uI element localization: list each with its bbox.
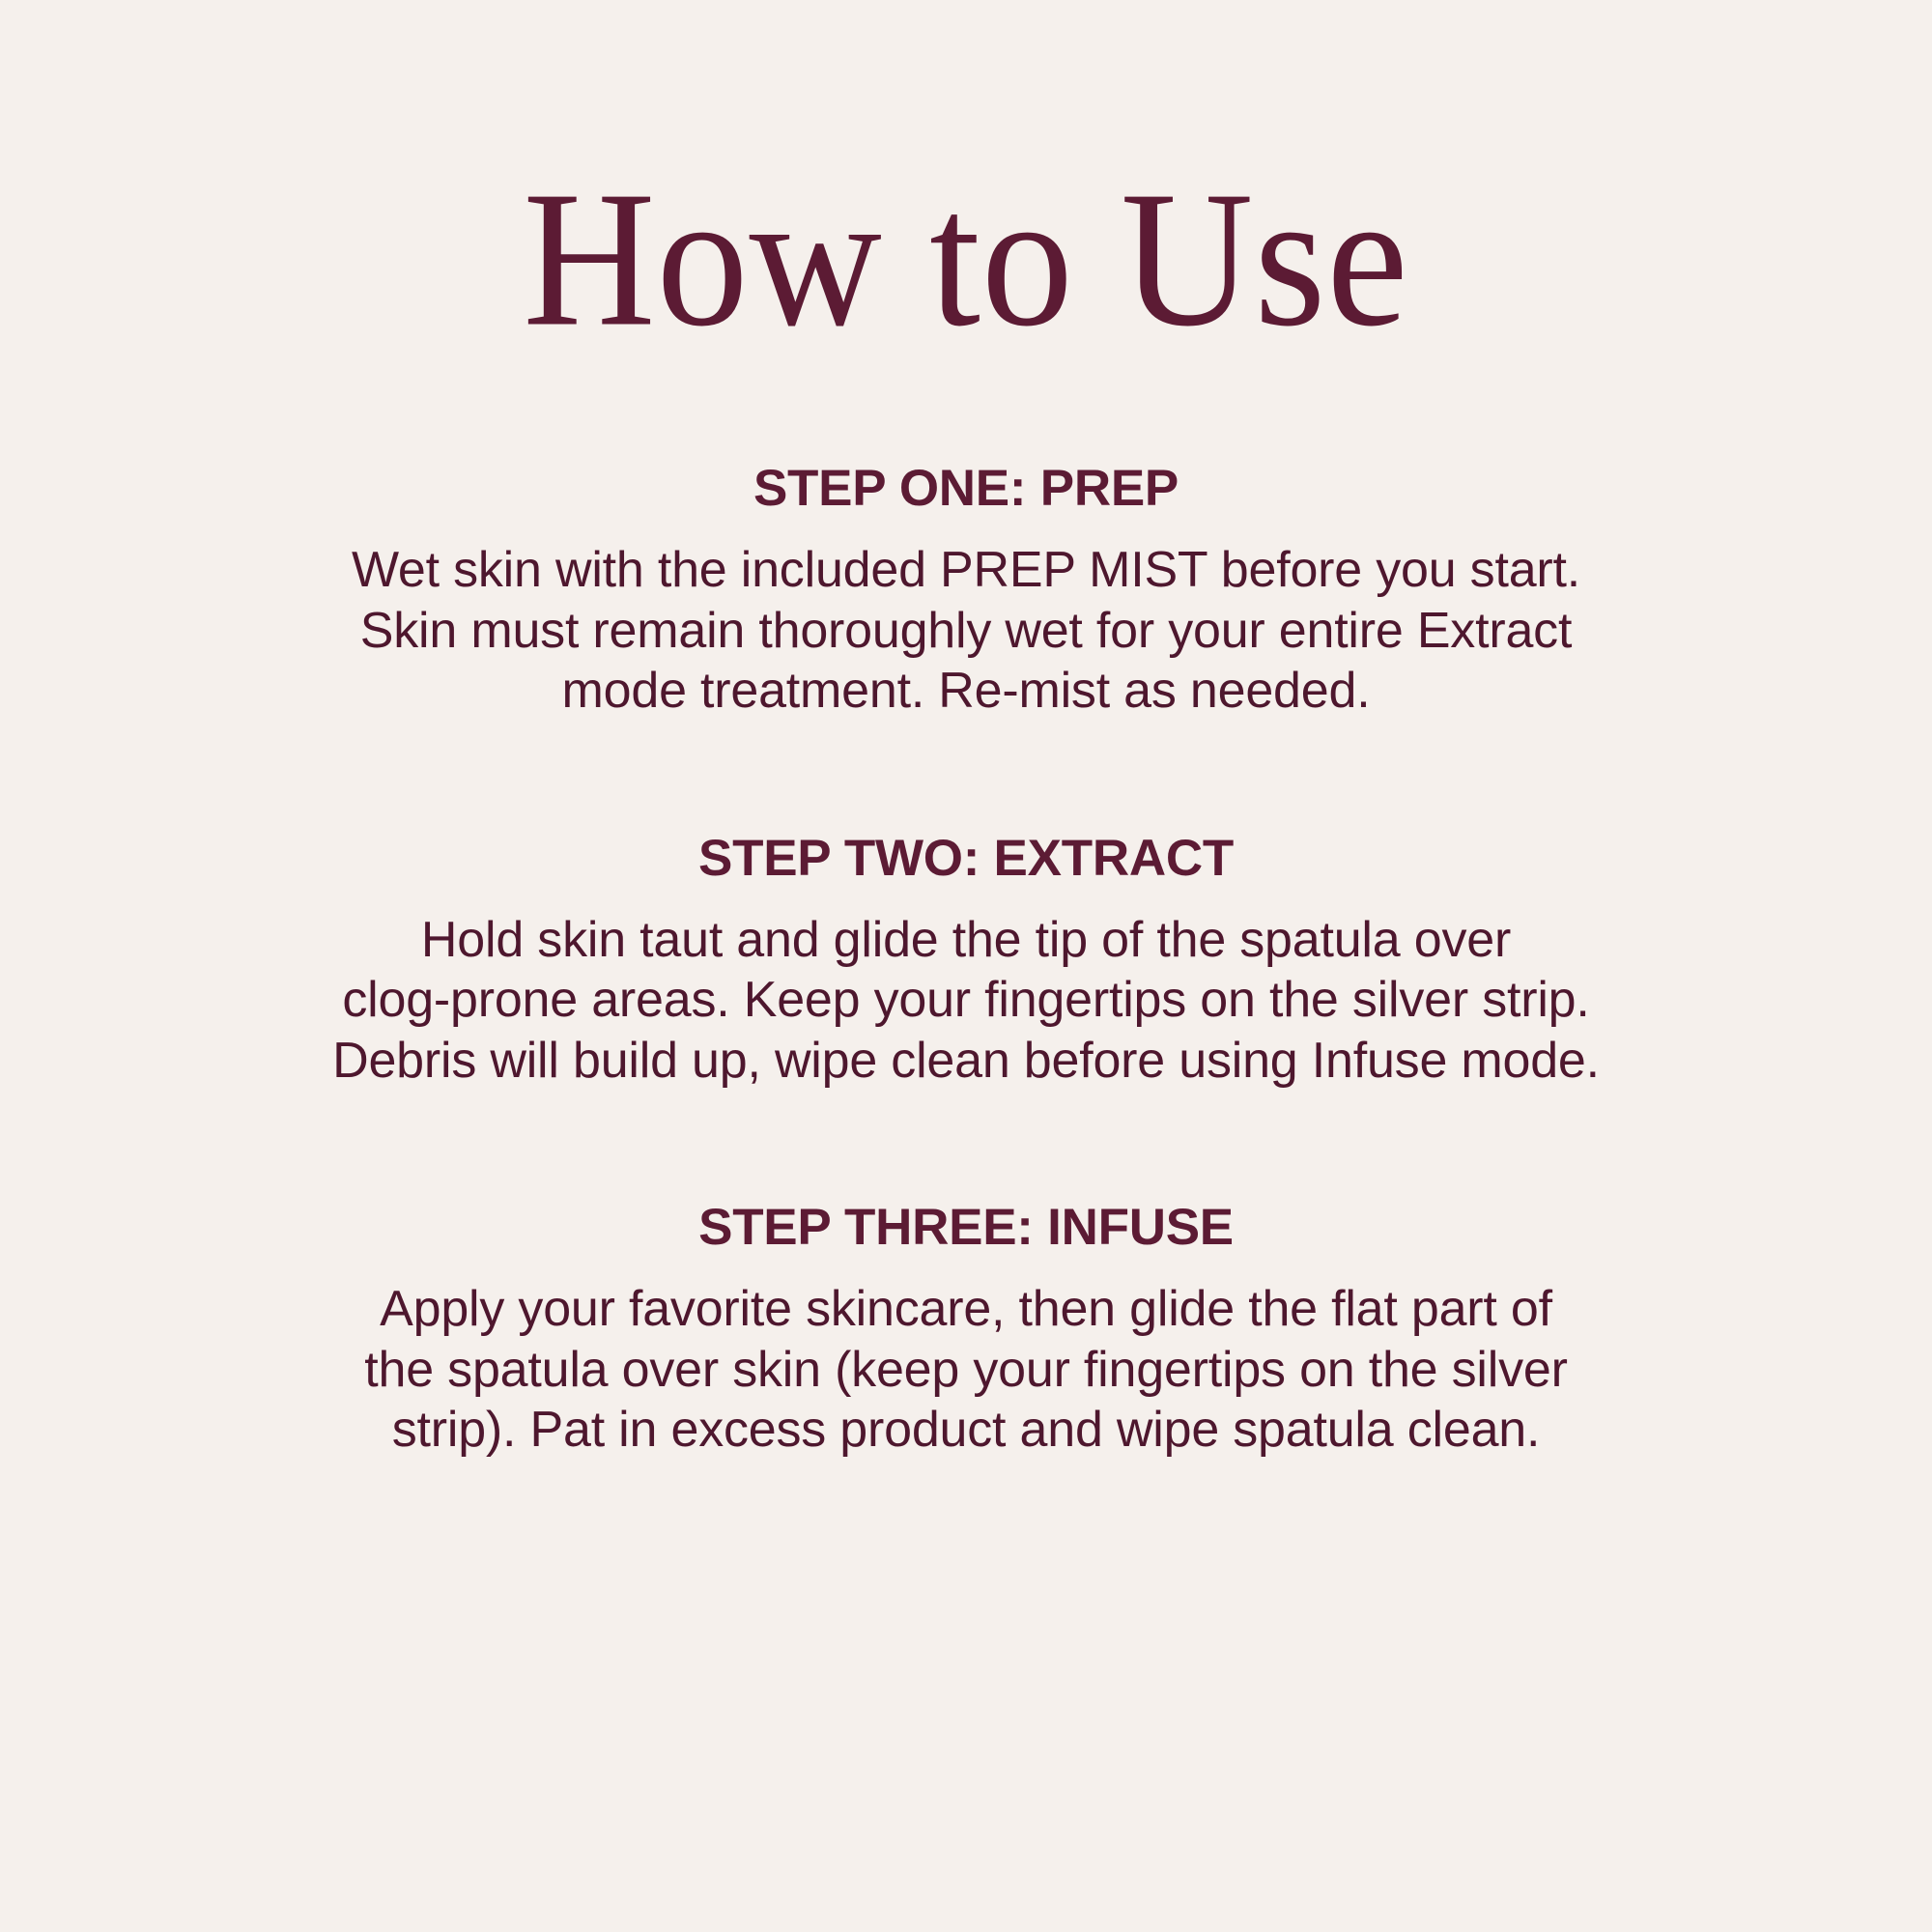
steps-list: STEP ONE: PREP Wet skin with the include… — [155, 460, 1777, 1461]
step-two: STEP TWO: EXTRACT Hold skin taut and gli… — [155, 830, 1777, 1092]
step-one-line-3: mode treatment. Re-mist as needed. — [155, 661, 1777, 721]
page-title: How to Use — [0, 162, 1932, 356]
step-three-line-2: the spatula over skin (keep your fingert… — [155, 1340, 1777, 1400]
step-two-line-1: Hold skin taut and glide the tip of the … — [155, 910, 1777, 970]
step-one-line-1: Wet skin with the included PREP MIST bef… — [155, 540, 1777, 600]
step-two-body: Hold skin taut and glide the tip of the … — [155, 910, 1777, 1091]
step-one: STEP ONE: PREP Wet skin with the include… — [155, 460, 1777, 722]
step-three-line-1: Apply your favorite skincare, then glide… — [155, 1279, 1777, 1339]
step-two-line-2: clog-prone areas. Keep your fingertips o… — [155, 970, 1777, 1030]
step-three-line-3: strip). Pat in excess product and wipe s… — [155, 1400, 1777, 1460]
how-to-use-page: How to Use STEP ONE: PREP Wet skin with … — [0, 0, 1932, 1932]
step-three: STEP THREE: INFUSE Apply your favorite s… — [155, 1199, 1777, 1461]
step-two-heading: STEP TWO: EXTRACT — [155, 830, 1777, 887]
step-three-heading: STEP THREE: INFUSE — [155, 1199, 1777, 1256]
step-one-heading: STEP ONE: PREP — [155, 460, 1777, 517]
title-block: How to Use — [0, 162, 1932, 346]
step-one-line-2: Skin must remain thoroughly wet for your… — [155, 601, 1777, 661]
step-three-body: Apply your favorite skincare, then glide… — [155, 1279, 1777, 1460]
step-two-line-3: Debris will build up, wipe clean before … — [155, 1031, 1777, 1091]
step-one-body: Wet skin with the included PREP MIST bef… — [155, 540, 1777, 721]
